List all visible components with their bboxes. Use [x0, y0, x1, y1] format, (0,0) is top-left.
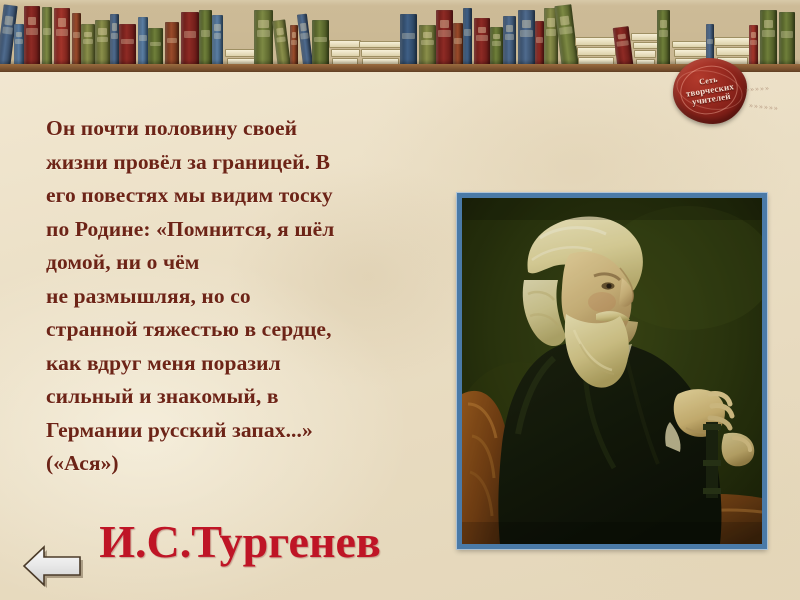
- book-stack: [575, 36, 615, 66]
- book-spine: [436, 10, 453, 66]
- book-spine: [312, 20, 329, 66]
- book-spine: [81, 24, 95, 66]
- book-spine: [110, 14, 119, 66]
- book-stack: [359, 40, 400, 66]
- book-spine: [272, 19, 291, 66]
- quote-line: Он почти половину своей: [46, 112, 438, 146]
- book-spine: [24, 6, 40, 66]
- book-spine: [297, 14, 313, 67]
- book-spine: [453, 23, 463, 66]
- book-stack: [329, 39, 359, 66]
- portrait-frame: [457, 193, 767, 549]
- book-spine: [181, 12, 199, 66]
- book-spine: [54, 8, 70, 66]
- book-spine: [119, 24, 136, 66]
- book-spine: [749, 25, 758, 66]
- quote-line: его повестях мы видим тоску: [46, 179, 438, 213]
- book-spine: [199, 10, 212, 66]
- book-spine: [518, 10, 535, 66]
- book-spine: [14, 24, 24, 66]
- book-spine: [165, 22, 179, 66]
- book-spine: [657, 10, 670, 66]
- back-arrow-icon[interactable]: [18, 540, 90, 588]
- turgenev-portrait-image: [462, 198, 762, 544]
- author-name-title: И.С.Тургенев: [40, 516, 440, 568]
- book-spine: [535, 21, 544, 66]
- book-spine: [474, 18, 490, 66]
- quote-line: жизни провёл за границей. В: [46, 146, 438, 180]
- book-spine: [212, 15, 223, 66]
- book-spine: [779, 12, 795, 66]
- quote-line: не размышляя, но со: [46, 280, 438, 314]
- book-spine: [72, 13, 81, 66]
- slide-canvas: Сеть творческих учителей »»»»» »»»»»» Он…: [0, 0, 800, 600]
- bookshelf-books-row: [0, 0, 800, 66]
- book-spine: [290, 25, 298, 66]
- quote-line: домой, ни о чём: [46, 246, 438, 280]
- quote-line: по Родине: «Помнится, я шёл: [46, 213, 438, 247]
- book-spine: [463, 8, 472, 66]
- book-spine: [95, 20, 110, 66]
- book-spine: [419, 25, 436, 66]
- ribbon-mark-1: »»»»»: [745, 83, 771, 94]
- quote-line: сильный и знакомый, в: [46, 380, 438, 414]
- quote-line: («Ася»): [46, 447, 438, 481]
- quote-line: Германии русский запах...»: [46, 414, 438, 448]
- book-spine: [42, 7, 52, 66]
- wax-seal-ribbon-marks: »»»»» »»»»»»: [745, 82, 797, 118]
- book-spine: [254, 10, 273, 66]
- book-spine: [490, 27, 503, 66]
- quote-text-block: Он почти половину своейжизни провёл за г…: [46, 112, 438, 481]
- book-spine: [400, 14, 417, 66]
- ribbon-mark-2: »»»»»»: [749, 100, 780, 112]
- quote-line: странной тяжестью в сердце,: [46, 313, 438, 347]
- book-spine: [148, 28, 163, 66]
- wax-seal-logo: Сеть творческих учителей: [673, 58, 747, 124]
- book-stack: [631, 32, 657, 66]
- quote-line: как вдруг меня поразил: [46, 347, 438, 381]
- book-spine: [503, 16, 516, 66]
- book-spine: [138, 17, 148, 66]
- book-spine: [760, 10, 777, 66]
- back-navigation-button[interactable]: [18, 540, 90, 588]
